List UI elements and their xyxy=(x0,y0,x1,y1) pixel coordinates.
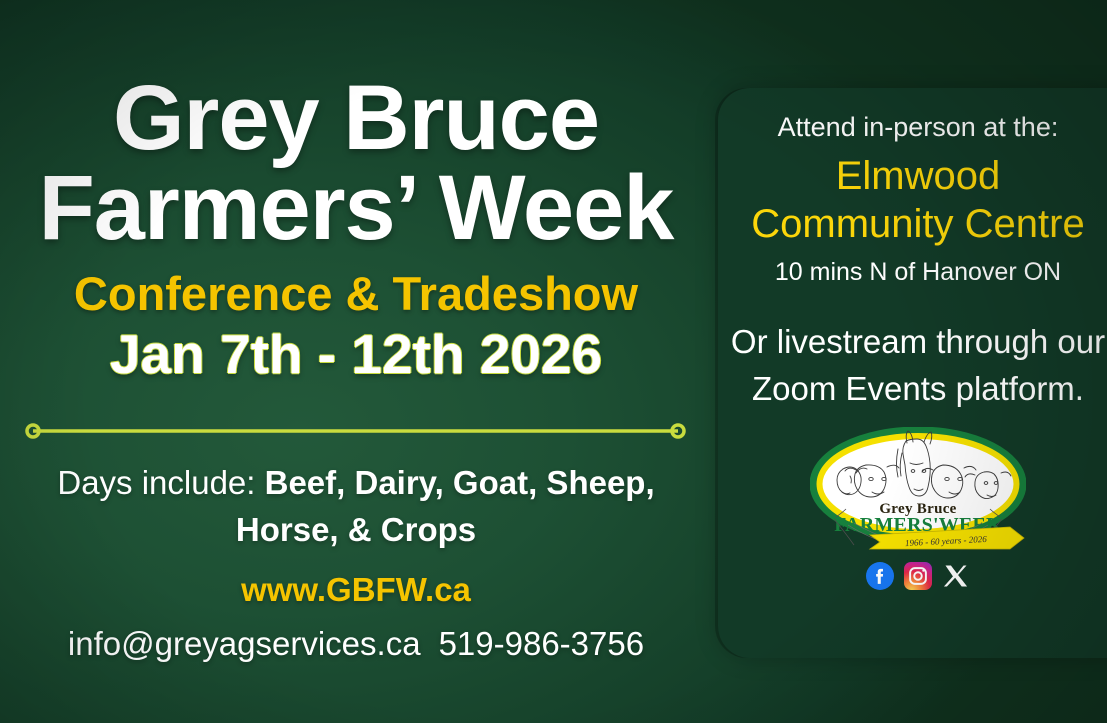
attend-label: Attend in-person at the: xyxy=(733,110,1103,145)
poster-canvas: Grey Bruce Farmers’ Week Conference & Tr… xyxy=(0,0,1107,723)
attendance-info-panel: Attend in-person at the: Elmwood Communi… xyxy=(718,88,1107,658)
left-content-column: Grey Bruce Farmers’ Week Conference & Tr… xyxy=(0,0,712,723)
days-include-text: Days include: Beef, Dairy, Goat, Sheep, … xyxy=(56,460,656,554)
phone-link[interactable]: 519-986-3756 xyxy=(439,625,645,662)
event-dates: Jan 7th - 12th 2026 xyxy=(110,326,602,384)
event-title-line-1: Grey Bruce xyxy=(113,74,599,162)
email-link[interactable]: info@greyagservices.ca xyxy=(68,625,421,662)
gbfw-logo: Grey Bruce FARMERS'WEEK xyxy=(810,427,1026,554)
facebook-icon[interactable] xyxy=(866,562,894,590)
contact-line: info@greyagservices.ca519-986-3756 xyxy=(68,625,644,663)
venue-name-line-2: Community Centre xyxy=(728,201,1107,248)
x-twitter-icon[interactable] xyxy=(942,562,970,590)
decorative-divider xyxy=(25,423,686,439)
days-include-prefix: Days include: xyxy=(57,464,264,501)
instagram-icon[interactable] xyxy=(904,562,932,590)
venue-location-note: 10 mins N of Hanover ON xyxy=(733,256,1103,289)
days-include-list: Beef, Dairy, Goat, Sheep, Horse, & Crops xyxy=(236,464,655,548)
livestream-note: Or livestream through our Zoom Events pl… xyxy=(729,319,1107,413)
website-link[interactable]: www.GBFW.ca xyxy=(241,571,471,609)
social-links xyxy=(866,562,970,590)
event-subtitle: Conference & Tradeshow xyxy=(74,269,638,318)
event-title-line-2: Farmers’ Week xyxy=(39,164,674,252)
venue-name-line-1: Elmwood xyxy=(728,153,1107,200)
